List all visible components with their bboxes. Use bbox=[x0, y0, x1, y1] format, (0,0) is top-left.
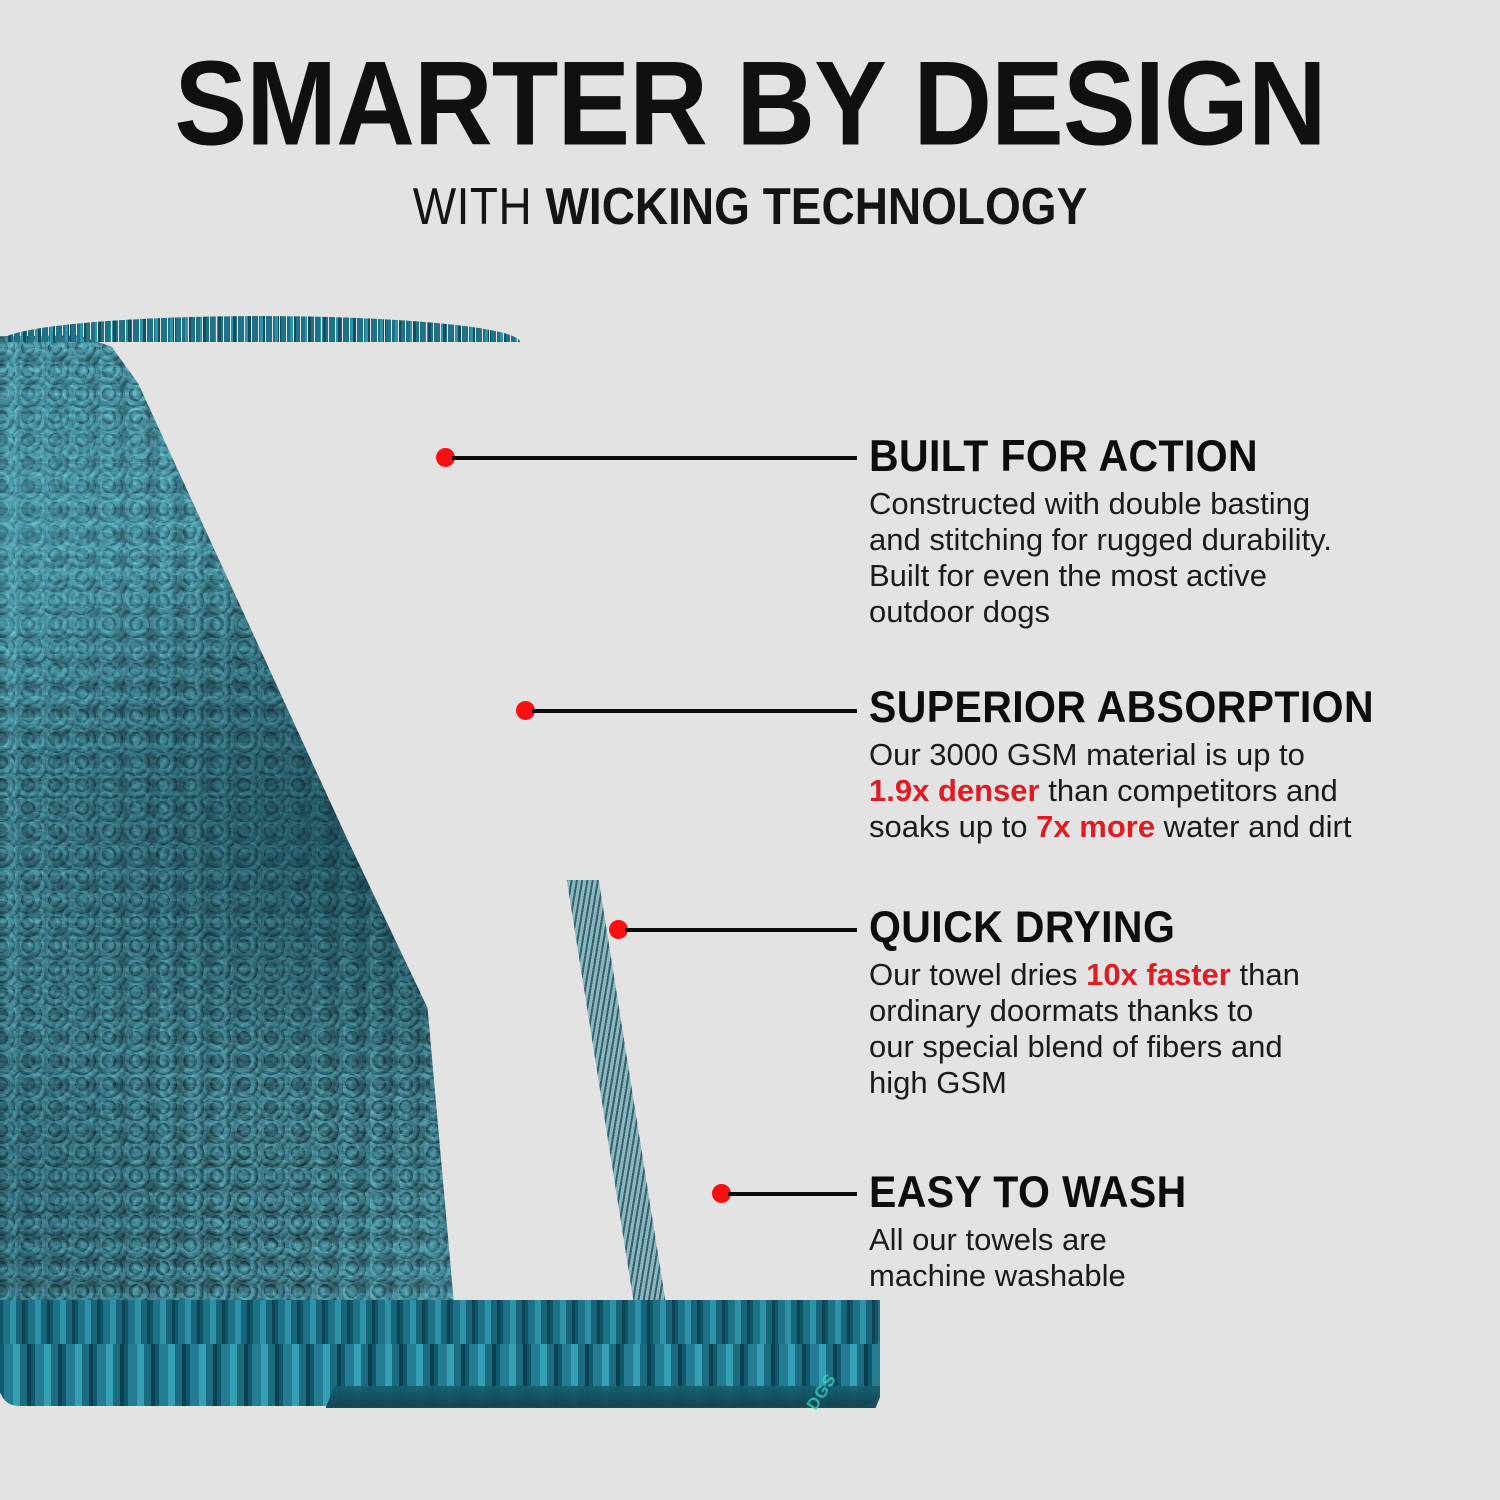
feature-title-superior-absorption: SUPERIOR ABSORPTION bbox=[869, 683, 1449, 731]
mat-pile-texture bbox=[0, 318, 905, 1413]
infographic-canvas: SMARTER BY DESIGN WITH WICKING TECHNOLOG… bbox=[0, 0, 1500, 1500]
feature-body-line: than bbox=[1231, 957, 1300, 992]
feature-body-line: machine washable bbox=[869, 1258, 1126, 1293]
feature-body-line: All our towels are bbox=[869, 1222, 1107, 1257]
feature-body-line: our special blend of fibers and bbox=[869, 1029, 1283, 1064]
mat-bottom-pile bbox=[0, 1300, 880, 1418]
feature-body-line: Our towel dries bbox=[869, 957, 1086, 992]
feature-body-line: water and dirt bbox=[1155, 809, 1351, 844]
feature-quick-drying: QUICK DRYING Our towel dries 10x faster … bbox=[869, 903, 1449, 1101]
feature-highlight-density: 1.9x denser bbox=[869, 773, 1040, 808]
feature-title-built-for-action: BUILT FOR ACTION bbox=[869, 432, 1449, 480]
feature-easy-to-wash: EASY TO WASH All our towels are machine … bbox=[869, 1168, 1449, 1294]
feature-title-quick-drying: QUICK DRYING bbox=[869, 903, 1449, 951]
feature-body-line: outdoor dogs bbox=[869, 594, 1050, 629]
feature-built-for-action: BUILT FOR ACTION Constructed with double… bbox=[869, 432, 1449, 630]
feature-body-line: ordinary doormats thanks to bbox=[869, 993, 1253, 1028]
feature-body-line: high GSM bbox=[869, 1065, 1007, 1100]
product-image-doormat bbox=[0, 318, 905, 1418]
feature-body-superior-absorption: Our 3000 GSM material is up to 1.9x dens… bbox=[869, 737, 1449, 845]
feature-body-line: than competitors and bbox=[1040, 773, 1338, 808]
feature-body-line: Built for even the most active bbox=[869, 558, 1267, 593]
page-title: SMARTER BY DESIGN bbox=[0, 44, 1500, 164]
feature-title-easy-to-wash: EASY TO WASH bbox=[869, 1168, 1449, 1216]
feature-body-easy-to-wash: All our towels are machine washable bbox=[869, 1222, 1449, 1294]
subtitle-bold-text: WICKING TECHNOLOGY bbox=[546, 177, 1088, 235]
page-subtitle: WITH WICKING TECHNOLOGY bbox=[0, 178, 1500, 234]
callout-line-easy-to-wash bbox=[728, 1192, 857, 1196]
feature-superior-absorption: SUPERIOR ABSORPTION Our 3000 GSM materia… bbox=[869, 683, 1449, 845]
callout-line-superior-absorption bbox=[532, 709, 857, 713]
feature-body-line: Constructed with double basting bbox=[869, 486, 1310, 521]
feature-highlight-absorption: 7x more bbox=[1036, 809, 1155, 844]
feature-body-line: and stitching for rugged durability. bbox=[869, 522, 1332, 557]
subtitle-light-text: WITH bbox=[413, 177, 546, 235]
callout-line-built-for-action bbox=[452, 456, 857, 460]
feature-body-quick-drying: Our towel dries 10x faster than ordinary… bbox=[869, 957, 1449, 1101]
feature-body-line: soaks up to bbox=[869, 809, 1036, 844]
callout-line-quick-drying bbox=[625, 928, 857, 932]
feature-body-line: Our 3000 GSM material is up to bbox=[869, 737, 1305, 772]
feature-body-built-for-action: Constructed with double basting and stit… bbox=[869, 486, 1449, 630]
feature-highlight-drying: 10x faster bbox=[1086, 957, 1231, 992]
mat-pile-row bbox=[0, 1344, 880, 1406]
